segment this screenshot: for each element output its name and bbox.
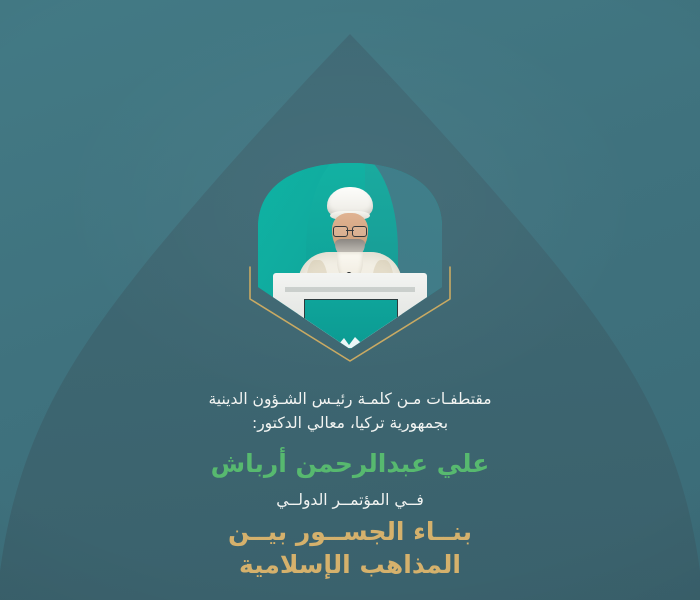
conference-title: بنــاء الجســور بيــن المذاهب الإسلامية: [185, 516, 515, 581]
intro-text: مقتطفـات مـن كلمـة رئيـس الشـؤون الدينية…: [180, 388, 520, 435]
glasses-icon: [333, 226, 367, 235]
speaker-name: علي عبدالرحمن أرباش: [0, 448, 700, 479]
poster-canvas: مقتطفـات مـن كلمـة رئيـس الشـؤون الدينية…: [0, 0, 700, 600]
podium-front-panel: [304, 299, 399, 349]
podium-lip: [285, 287, 415, 292]
conference-intro-text: فــي المؤتمــر الدولــي: [0, 491, 700, 509]
text-block: مقتطفـات مـن كلمـة رئيـس الشـؤون الدينية…: [0, 388, 700, 581]
portrait-photo: [258, 163, 442, 349]
face: [332, 213, 368, 255]
podium: [273, 273, 428, 349]
portrait-frame: [258, 163, 442, 349]
podium-logo-icon: [338, 336, 364, 348]
